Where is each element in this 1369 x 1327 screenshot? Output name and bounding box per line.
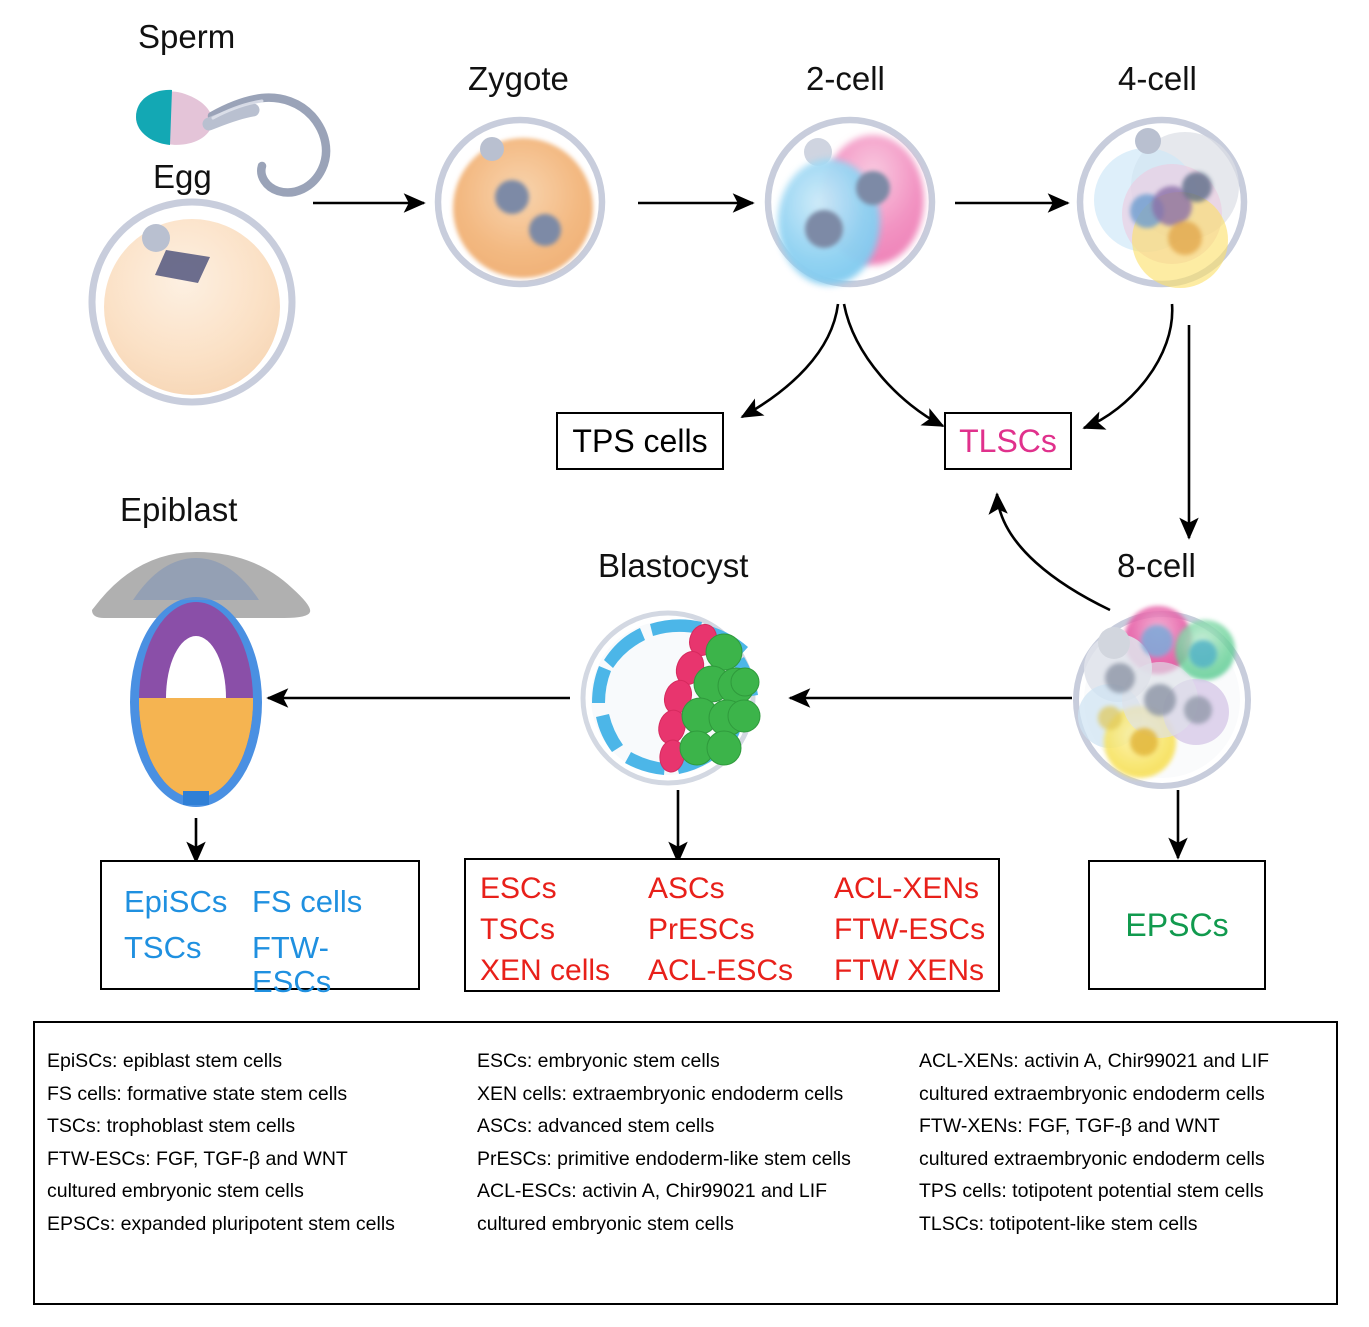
epscs-label: EPSCs bbox=[1090, 862, 1264, 988]
cell-type-escs: ESCs bbox=[480, 871, 648, 907]
eight-cell-illustration bbox=[1076, 606, 1248, 786]
legend-item: EPSCs: expanded pluripotent stem cells bbox=[47, 1208, 477, 1241]
cell-type-ftw-escs-epi: FTW-ESCs bbox=[252, 931, 402, 999]
cell-type-acl-escs: ACL-ESCs bbox=[648, 953, 834, 989]
label-4cell: 4-cell bbox=[1118, 62, 1197, 95]
arrow-layer bbox=[196, 203, 1189, 862]
legend-item: PrESCs: primitive endoderm-like stem cel… bbox=[477, 1143, 927, 1176]
legend-column-2: ESCs: embryonic stem cells XEN cells: ex… bbox=[477, 1045, 927, 1240]
label-2cell: 2-cell bbox=[806, 62, 885, 95]
cell-type-fs-cells: FS cells bbox=[252, 885, 402, 919]
cell-type-tscs-bl: TSCs bbox=[480, 912, 648, 948]
legend-item: EpiSCs: epiblast stem cells bbox=[47, 1045, 477, 1078]
arrow-4cell-to-tlsc bbox=[1084, 304, 1172, 428]
arrow-2cell-to-tlsc bbox=[844, 304, 943, 426]
label-8cell: 8-cell bbox=[1117, 549, 1196, 582]
blastocyst-illustration bbox=[583, 613, 760, 783]
two-cell-illustration bbox=[768, 120, 932, 285]
legend-item: ESCs: embryonic stem cells bbox=[477, 1045, 927, 1078]
legend-item: FTW-ESCs: FGF, TGF-β and WNT bbox=[47, 1143, 477, 1176]
legend-item: TSCs: trophoblast stem cells bbox=[47, 1110, 477, 1143]
label-zygote: Zygote bbox=[468, 62, 569, 95]
diagram-canvas: Sperm Egg Zygote 2-cell 4-cell 8-cell Bl… bbox=[0, 0, 1369, 1327]
cell-type-tscs-epi: TSCs bbox=[124, 931, 252, 999]
zygote-illustration bbox=[438, 120, 602, 284]
tlscs-label: TLSCs bbox=[946, 414, 1070, 468]
legend-item: ACL-XENs: activin A, Chir99021 and LIF bbox=[919, 1045, 1339, 1078]
legend-item: ACL-ESCs: activin A, Chir99021 and LIF bbox=[477, 1175, 927, 1208]
legend-item: cultured extraembryonic endoderm cells bbox=[919, 1143, 1339, 1176]
four-cell-illustration bbox=[1080, 120, 1244, 288]
legend-item: ASCs: advanced stem cells bbox=[477, 1110, 927, 1143]
epiblast-cells-box[interactable]: EpiSCs FS cells TSCs FTW-ESCs bbox=[100, 860, 420, 990]
legend-column-3: ACL-XENs: activin A, Chir99021 and LIF c… bbox=[919, 1045, 1339, 1240]
legend-item: FTW-XENs: FGF, TGF-β and WNT bbox=[919, 1110, 1339, 1143]
legend-item: XEN cells: extraembryonic endoderm cells bbox=[477, 1078, 927, 1111]
cell-type-ftw-escs: FTW-ESCs bbox=[834, 912, 990, 948]
cell-type-ascs: ASCs bbox=[648, 871, 834, 907]
tps-cells-label: TPS cells bbox=[558, 414, 722, 468]
blastocyst-cells-box[interactable]: ESCs ASCs ACL-XENs TSCs PrESCs FTW-ESCs … bbox=[464, 858, 1000, 992]
tps-cells-box[interactable]: TPS cells bbox=[556, 412, 724, 470]
cell-type-xen-cells: XEN cells bbox=[480, 953, 648, 989]
egg-illustration bbox=[92, 202, 292, 402]
epscs-box[interactable]: EPSCs bbox=[1088, 860, 1266, 990]
arrow-2cell-to-tps bbox=[742, 304, 838, 417]
legend-item: FS cells: formative state stem cells bbox=[47, 1078, 477, 1111]
label-sperm: Sperm bbox=[138, 20, 235, 53]
legend-item: TLSCs: totipotent-like stem cells bbox=[919, 1208, 1339, 1241]
arrow-8cell-to-tlsc bbox=[997, 494, 1110, 610]
legend-item: cultured extraembryonic endoderm cells bbox=[919, 1078, 1339, 1111]
epiblast-illustration bbox=[92, 552, 310, 807]
label-blastocyst: Blastocyst bbox=[598, 549, 748, 582]
cell-type-acl-xens: ACL-XENs bbox=[834, 871, 990, 907]
abbreviation-legend: EpiSCs: epiblast stem cells FS cells: fo… bbox=[33, 1021, 1338, 1305]
label-epiblast: Epiblast bbox=[120, 493, 237, 526]
legend-item: cultured embryonic stem cells bbox=[477, 1208, 927, 1241]
legend-column-1: EpiSCs: epiblast stem cells FS cells: fo… bbox=[47, 1045, 477, 1240]
cell-type-ftw-xens: FTW XENs bbox=[834, 953, 990, 989]
cell-type-episcs: EpiSCs bbox=[124, 885, 252, 919]
cell-type-prescs: PrESCs bbox=[648, 912, 834, 948]
label-egg: Egg bbox=[153, 160, 212, 193]
legend-item: cultured embryonic stem cells bbox=[47, 1175, 477, 1208]
tlscs-box[interactable]: TLSCs bbox=[944, 412, 1072, 470]
legend-item: TPS cells: totipotent potential stem cel… bbox=[919, 1175, 1339, 1208]
